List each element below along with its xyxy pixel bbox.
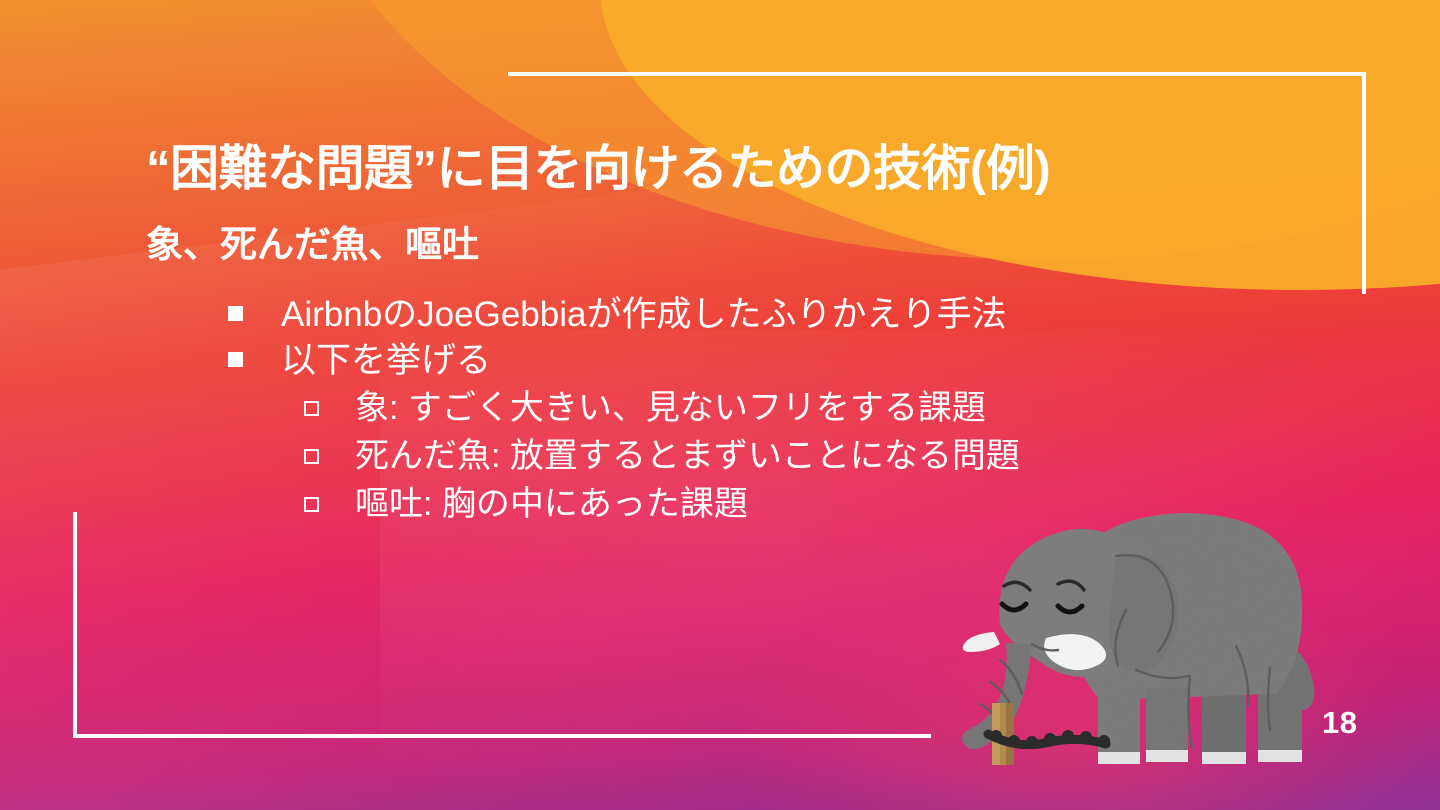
list-item-label: AirbnbのJoeGebbiaが作成したふりかえり手法 (281, 292, 1006, 338)
slide-title: “困難な問題”に目を向けるための技術(例) (146, 129, 1050, 200)
bullet-list: AirbnbのJoeGebbiaが作成したふりかえり手法 以下を挙げる 象: す… (228, 292, 1328, 528)
chained-elephant-illustration (940, 498, 1330, 788)
hollow-square-bullet-icon (304, 449, 319, 464)
frame-right-vertical-line (1362, 72, 1366, 294)
list-item: 以下を挙げる (228, 338, 1328, 384)
list-item: 死んだ魚: 放置するとまずいことになる問題 (304, 432, 1328, 480)
list-item-label: 死んだ魚: 放置するとまずいことになる問題 (355, 432, 1020, 480)
slide-subtitle: 象、死んだ魚、嘔吐 (146, 214, 479, 268)
hollow-square-bullet-icon (304, 401, 319, 416)
list-item: AirbnbのJoeGebbiaが作成したふりかえり手法 (228, 292, 1328, 338)
frame-left-vertical-line (73, 512, 77, 738)
list-item-label: 以下を挙げる (281, 338, 491, 384)
filled-square-bullet-icon (228, 352, 243, 367)
slide-canvas: “困難な問題”に目を向けるための技術(例) 象、死んだ魚、嘔吐 AirbnbのJ… (0, 0, 1440, 810)
list-item: 象: すごく大きい、見ないフリをする課題 (304, 384, 1328, 432)
list-item-label: 嘔吐: 胸の中にあった課題 (355, 480, 748, 528)
filled-square-bullet-icon (228, 306, 243, 321)
frame-top-horizontal-line (508, 72, 1366, 76)
hollow-square-bullet-icon (304, 497, 319, 512)
list-item-label: 象: すごく大きい、見ないフリをする課題 (355, 384, 986, 432)
frame-bottom-horizontal-line (73, 734, 931, 738)
